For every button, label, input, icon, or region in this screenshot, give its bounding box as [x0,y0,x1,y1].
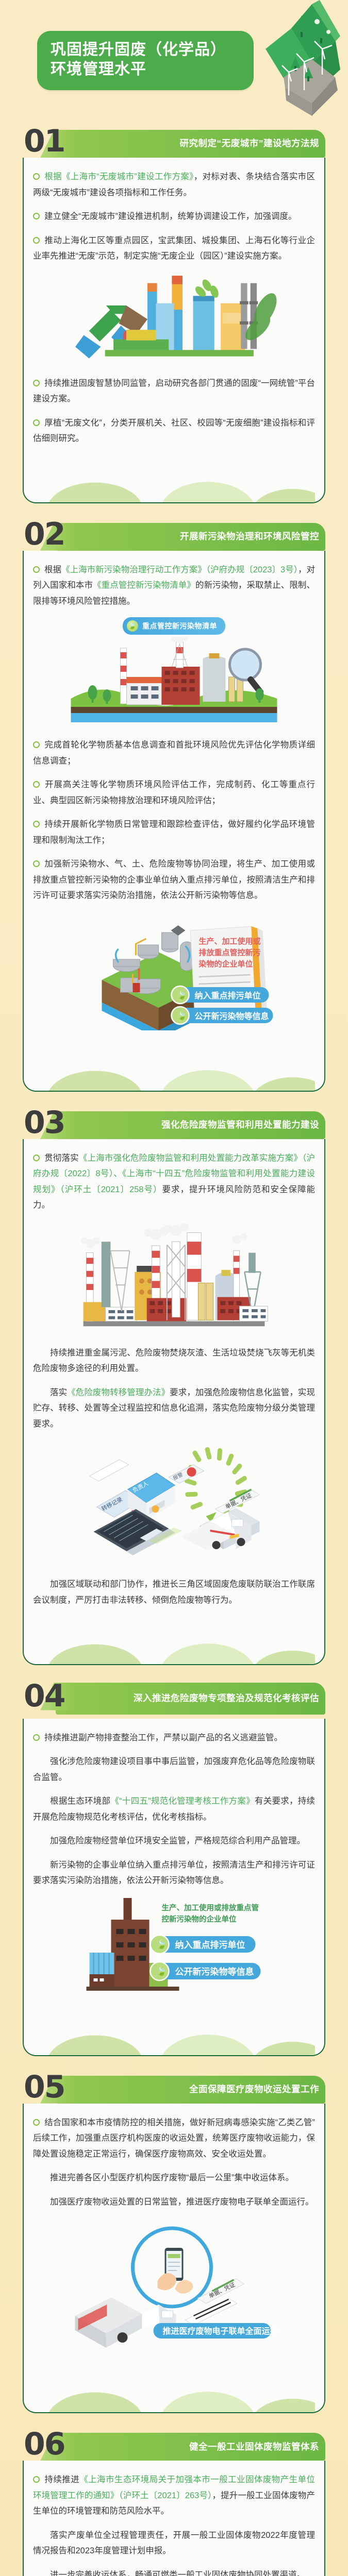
para-text: 新污染物的企事业单位纳入重点排污单位，按照清洁生产和排污许可证要求落实污染防治措… [33,1860,315,1886]
poster-title-line1: 巩固提升固废（化学品） [51,40,242,60]
paragraph: 加强危险废物经营单位环境安全监管，严格规范综合利用产品管理。 [33,1833,315,1849]
section-number: 05 [24,2072,65,2103]
paragraph: 开展高关注等化学物质环境风险评估工作，完成制药、化工等重点行业、典型园区新污染物… [33,777,315,808]
para-text: 厚植“无废文化”，分类开展机关、社区、校园等“无废细胞”建设指标和评估细则研究。 [33,418,315,444]
para-text: 加强新污染物水、气、土、危险废物等协同治理，将生产、加工使用或排放重点管控新污染… [33,859,315,900]
section-title: 强化危险废物监管和利用处置能力建设 [161,1120,319,1130]
para-text: 加强危险废物经营单位环境安全监管，严格规范综合利用产品管理。 [50,1836,305,1845]
paragraph: 厚植“无废文化”，分类开展机关、社区、校园等“无废细胞”建设指标和评估细则研究。 [33,415,315,447]
para-hl: 《重点管控新污染物清单》 [93,581,195,590]
section-body: 根据《上海市“无废城市”建设工作方案》，对标对表、条块结合落实市区两级“无废城市… [23,158,325,503]
paragraph: 持续推进副产物排查整治工作，严禁以副产品的名义逃避监管。 [33,1730,315,1746]
section-number: 06 [24,2429,65,2460]
svg-text:推进医疗废物电子联单全面运行: 推进医疗废物电子联单全面运行 [163,2326,278,2336]
section-body: 根据《上海市新污染物治理行动工作方案》（沪府办规〔2023〕3号），对列入国家和… [23,551,325,1092]
section-tab: 健全一般工业固体废物监管体系 [56,2433,325,2461]
para-text: 结合国家和本市疫情防控的相关措施，做好新冠病毒感染实施“乙类乙管”后续工作，加强… [33,2118,315,2159]
para-hl: 《上海市新污染物治理行动工作方案》（沪府办规〔2023〕3号） [61,565,298,574]
section-body: 结合国家和本市疫情防控的相关措施，做好新冠病毒感染实施“乙类乙管”后续工作，加强… [23,2104,325,2414]
paragraph: 持续推进固废智慧协同监管，启动研究各部门贯通的固废“一网统管”平台建设方案。 [33,376,315,407]
section-title: 全面保障医疗废物收运处置工作 [189,2084,319,2095]
bullet-icon [33,566,40,573]
para-text: 加强医疗废物收运处置的日常监管，推进医疗废物电子联单全面运行。 [50,2197,314,2207]
para-text: 建立健全“无废城市”建设推进机制，统筹协调建设工作，加强调度。 [44,212,297,221]
medical-waste-truck-illustration: 单据、凭证 推进医疗废物电子联单全面运行 [33,2218,315,2354]
svg-text:排放重点管控新污: 排放重点管控新污 [199,948,261,957]
section-number: 02 [24,519,65,550]
para-text: 进一步完善收运体系，畅通可燃类一般工业固体废物协同处置渠道。 [50,2570,305,2576]
paragraph: 落实产废单位全过程管理责任，开展一般工业固体废物2022年度管理情况报告和202… [33,2528,315,2559]
section-01: 01 研究制定“无废城市”建设地方法规 根据《上海市“无废城市”建设工作方案》，… [23,124,325,503]
paragraph: 根据《上海市新污染物治理行动工作方案》（沪府办规〔2023〕3号），对列入国家和… [33,562,315,609]
paragraph: 持续推进重金属污泥、危险废物焚烧灰渣、生活垃圾焚烧飞灰等无机类危险废物多途径的利… [33,1345,315,1377]
para-text: 根据 [44,565,61,574]
para-text: 持续推进固废智慧协同监管，启动研究各部门贯通的固废“一网统管”平台建设方案。 [33,379,315,404]
section-number: 04 [24,1681,65,1711]
section-body: 持续推进《上海市生态环境局关于加强本市一般工业固体废物产生单位环境管理工作的通知… [23,2461,325,2576]
section-body: 贯彻落实《上海市强化危险废物监管和利用处置能力改革实施方案》（沪府办规〔2022… [23,1139,325,1665]
svg-text:公开新污染物等信息: 公开新污染物等信息 [175,1967,254,1977]
svg-text:🍃: 🍃 [157,1940,167,1950]
paragraph: 加强医疗废物收运处置的日常监管，推进医疗废物电子联单全面运行。 [33,2194,315,2210]
para-text: 加强区域联动和部门协作，推进长三角区域固废危废联防联治工作联席会议制度，严厉打击… [33,1580,315,1605]
section-header: 04 深入推进危险废物专项整治及规范化考核评估 [23,1679,325,1725]
poster-title-line2: 环境管理水平 [51,60,242,79]
bullet-icon [33,781,40,788]
paragraph: 结合国家和本市疫情防控的相关措施，做好新冠病毒感染实施“乙类乙管”后续工作，加强… [33,2115,315,2162]
section-04: 04 深入推进危险废物专项整治及规范化考核评估 持续推进副产物排查整治工作，严禁… [23,1679,325,2056]
para-hl: 根据《上海市“无废城市”建设工作方案》 [44,172,194,181]
para-text: 开展高关注等化学物质环境风险评估工作，完成制药、化工等重点行业、典型园区新污染物… [33,780,315,805]
bullet-icon [33,1734,40,1741]
industrial-chimneys-illustration [33,1222,315,1335]
bullet-icon [33,2476,40,2483]
bullet-icon [33,1155,40,1161]
paragraph: 推动上海化工区等重点园区，宝武集团、城投集团、上海石化等行业企业率先推进“无废”… [33,233,315,264]
paragraph: 建立健全“无废城市”建设推进机制，统筹协调建设工作，加强调度。 [33,209,315,225]
section-05: 05 全面保障医疗废物收运处置工作 结合国家和本市疫情防控的相关措施，做好新冠病… [23,2070,325,2414]
paragraph: 加强新污染物水、气、土、危险废物等协同治理，将生产、加工使用或排放重点管控新污染… [33,856,315,904]
para-text: 落实 [50,1388,67,1397]
para-text: 根据生态环境部 [50,1797,110,1806]
laptop-truck-records-illustration: 转移记录 负责人 报警 [33,1440,315,1566]
section-tab: 研究制定“无废城市”建设地方法规 [56,130,325,158]
section-tab: 深入推进危险废物专项整治及规范化考核评估 [56,1683,325,1715]
section-06: 06 健全一般工业固体废物监管体系 持续推进《上海市生态环境局关于加强本市一般工… [23,2427,325,2576]
svg-text:🍃: 🍃 [177,990,187,1000]
para-text: 强化涉危险废物建设项目事中事后监管，加强废弃危化品等危险废物联合监管。 [33,1757,315,1782]
caption-text: 重点管控新污染物清单 [142,621,217,631]
section-title: 健全一般工业固体废物监管体系 [189,2442,319,2452]
hero-banner: 巩固提升固废（化学品） 环境管理水平 [0,0,348,124]
bullet-icon [33,741,40,748]
section-number: 01 [24,126,65,157]
bullet-icon [33,237,40,244]
paragraph: 根据生态环境部《“十四五”规范化管理考核工作方案》有关要求，持续开展危险废物规范… [33,1793,315,1825]
svg-text:纳入重点排污单位: 纳入重点排污单位 [195,991,261,1001]
paragraph: 持续开展新化学物质日常管理和跟踪检查评估，做好履约化学品环境管理和限制淘汰工作； [33,817,315,848]
para-text: 持续开展新化学物质日常管理和跟踪检查评估，做好履约化学品环境管理和限制淘汰工作； [33,820,315,845]
para-text: 推动上海化工区等重点园区，宝武集团、城投集团、上海石化等行业企业率先推进“无废”… [33,236,315,261]
svg-text:生产、加工使用或: 生产、加工使用或 [199,937,261,946]
paragraph: 新污染物的企事业单位纳入重点排污单位，按照清洁生产和排污许可证要求落实污染防治措… [33,1857,315,1889]
svg-text:公开新污染物等信息: 公开新污染物等信息 [195,1011,269,1021]
paragraph: 强化涉危险废物建设项目事中事后监管，加强废弃危化品等危险废物联合监管。 [33,1754,315,1785]
bullet-icon [33,380,40,386]
svg-text:🍃: 🍃 [157,1967,167,1976]
paragraph: 落实《危险废物转移管理办法》要求，加强危险废物信息化监管，实现贮存、转移、处置等… [33,1385,315,1432]
para-text: 持续推进 [44,2475,79,2484]
section-03: 03 强化危险废物监管和利用处置能力建设 贯彻落实《上海市强化危险废物监管和利用… [23,1105,325,1665]
illustration-caption-pill: 🍃 重点管控新污染物清单 [123,617,225,635]
svg-text:染物的企业单位: 染物的企业单位 [198,959,253,969]
section-02: 02 开展新污染物治理和环境风险管控 根据《上海市新污染物治理行动工作方案》（沪… [23,517,325,1092]
para-text: 落实产废单位全过程管理责任，开展一般工业固体废物2022年度管理情况报告和202… [33,2531,315,2556]
section-tab: 开展新污染物治理和环境风险管控 [56,523,325,551]
svg-text:🍃: 🍃 [177,1011,187,1021]
para-text: 完成首轮化学物质基本信息调查和首批环境风险优先评估化学物质详细信息调查； [33,740,315,766]
bullet-icon [33,821,40,827]
red-factory-building-illustration: 生产、加工使用或排放重点管 控新污染物的企业单位 🍃 纳入重点排污单位 🍃 公开… [33,1897,315,1997]
section-tab: 全面保障医疗废物收运处置工作 [56,2076,325,2104]
poster-title: 巩固提升固废（化学品） 环境管理水平 [37,31,254,90]
para-text: 持续推进副产物排查整治工作，严禁以副产品的名义逃避监管。 [44,1733,283,1742]
leaf-icon: 🍃 [127,620,138,632]
bullet-icon [33,419,40,426]
section-number: 03 [24,1107,65,1138]
paragraph: 加强区域联动和部门协作，推进长三角区域固废危废联防联治工作联席会议制度，严厉打击… [33,1577,315,1608]
para-hl: 《“十四五”规范化管理考核工作方案》 [110,1797,255,1806]
section-title: 开展新污染物治理和环境风险管控 [180,531,319,542]
section-tab: 强化危险废物监管和利用处置能力建设 [56,1111,325,1139]
bullet-icon [33,2119,40,2126]
para-text: 持续推进重金属污泥、危险废物焚烧灰渣、生活垃圾焚烧飞灰等无机类危险废物多途径的利… [33,1348,315,1374]
infographic-poster: 巩固提升固废（化学品） 环境管理水平 01 研究制定“无废城市”建设地方法规 根… [0,0,348,2576]
section-body: 持续推进副产物排查整治工作，严禁以副产品的名义逃避监管。 强化涉危险废物建设项目… [23,1719,325,2056]
factory-magnifier-illustration: 🍃 重点管控新污染物清单 [33,617,315,727]
para-text: 贯彻落实 [44,1154,79,1163]
svg-text:生产、加工使用或排放重点管: 生产、加工使用或排放重点管 [162,1903,259,1912]
paragraph: 贯彻落实《上海市强化危险废物监管和利用处置能力改革实施方案》（沪府办规〔2022… [33,1150,315,1213]
paragraph: 推进完善各区小型医疗机构医疗废物“最后一公里”集中收运体系。 [33,2170,315,2186]
svg-text:控新污染物的企业单位: 控新污染物的企业单位 [162,1914,237,1924]
bullet-icon [33,173,40,180]
bullet-icon [33,860,40,867]
bullet-icon [33,213,40,219]
section-title: 深入推进危险废物专项整治及规范化考核评估 [134,1693,319,1704]
paragraph: 完成首轮化学物质基本信息调查和首批环境风险优先评估化学物质详细信息调查； [33,737,315,769]
paragraph: 进一步完善收运体系，畅通可燃类一般工业固体废物协同处置渠道。 [33,2567,315,2576]
isometric-plant-document-illustration: 生产、加工使用或 排放重点管控新污 染物的企业单位 🍃 纳入重点排污单位 [33,912,315,1033]
paragraph: 根据《上海市“无废城市”建设工作方案》，对标对表、条块结合落实市区两级“无废城市… [33,169,315,200]
svg-text:纳入重点排污单位: 纳入重点排污单位 [175,1940,245,1950]
paragraph: 持续推进《上海市生态环境局关于加强本市一般工业固体废物产生单位环境管理工作的通知… [33,2472,315,2519]
section-title: 研究制定“无废城市”建设地方法规 [180,138,320,149]
para-text: 推进完善各区小型医疗机构医疗废物“最后一公里”集中收运体系。 [50,2173,294,2182]
recycling-factory-illustration [33,273,315,365]
para-hl: 《危险废物转移管理办法》 [67,1388,170,1397]
